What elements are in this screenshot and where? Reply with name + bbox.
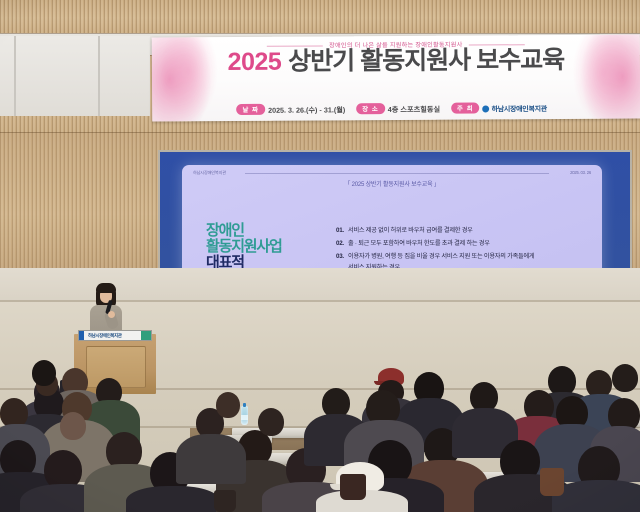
list-item-text: 이용자가 병원, 여행 등 집을 비울 경우 서비스 지원 또는 이용자의 가족…	[348, 253, 592, 260]
wall-seam-low	[0, 132, 640, 133]
slide-header: 하남시장애인복지관 2025. 03. 26	[193, 170, 591, 178]
wall-upper-slats	[0, 0, 640, 33]
audience-head	[32, 360, 56, 386]
slide-lead-line-1: 장애인	[206, 223, 356, 239]
handbag	[340, 474, 366, 500]
list-item: 01. 서비스 제공 없이 허위로 바우처 급여를 결제한 경우	[336, 227, 592, 234]
wall-seam-top	[0, 33, 640, 34]
banner-host-name: 하남시장애인복지관	[492, 106, 547, 113]
banner-place-segment: 장 소4층 스포츠힐동실	[356, 105, 442, 115]
list-item: 02. 출 · 퇴근 모두 포함하여 바우처 한도를 초과 결제 하는 경우	[336, 240, 592, 247]
banner-date-segment: 날 짜2025. 3. 26.(수) - 31.(월)	[236, 105, 347, 115]
presenter-hand	[108, 311, 115, 318]
host-logo-icon	[483, 105, 490, 112]
slide-organization: 하남시장애인복지관	[193, 170, 226, 176]
banner-title: 2025상반기 활동지원사 보수교육	[152, 48, 640, 76]
banner-host-segment: 주 최하남시장애인복지관	[451, 104, 547, 114]
audience-head	[258, 408, 284, 436]
list-item-text: 출 · 퇴근 모두 포함하여 바우처 한도를 초과 결제 하는 경우	[348, 240, 592, 247]
presenter-bangs	[96, 283, 116, 293]
slide-header-rule	[245, 173, 549, 174]
podium-sign-text: 하남시장애인복지관	[88, 333, 122, 339]
slide-subtitle: 「 2025 상반기 활동지원사 보수교육 」	[182, 179, 602, 188]
slide-lead-line-2: 활동지원사업	[206, 239, 356, 255]
banner-place-label: 장 소	[356, 103, 385, 114]
banner-place-value: 4층 스포츠힐동실	[388, 105, 440, 114]
audience-shoulders	[126, 486, 220, 512]
banner-date-label: 날 짜	[236, 104, 265, 115]
wall-panel-divider-a	[14, 36, 16, 116]
wall-panel-divider-b	[98, 36, 100, 116]
handbag	[214, 490, 236, 512]
podium-sign: 하남시장애인복지관	[78, 330, 152, 341]
list-item: 03. 이용자가 병원, 여행 등 집을 비울 경우 서비스 지원 또는 이용자…	[336, 253, 592, 260]
slide-date: 2025. 03. 26	[570, 170, 591, 175]
conference-photo: 장애인의 더 나은 삶을 지원하는 장애인활동지원사 2025상반기 활동지원사…	[0, 0, 640, 512]
audience-head	[612, 364, 638, 392]
list-item-text: 서비스 제공 없이 허위로 바우처 급여를 결제한 경우	[348, 227, 592, 234]
list-item-number: 02.	[336, 240, 348, 247]
audience-shoulders	[176, 434, 246, 484]
audience-head	[216, 392, 240, 418]
banner-title-text: 상반기 활동지원사 보수교육	[288, 46, 564, 76]
list-item-number: 01.	[336, 227, 348, 234]
banner-host-label: 주 최	[451, 102, 480, 113]
banner-year: 2025	[228, 48, 282, 76]
handbag	[540, 468, 564, 496]
banner-rule-right	[468, 44, 524, 45]
water-bottle	[241, 406, 248, 425]
wall-panel-left	[0, 36, 150, 116]
event-banner: 장애인의 더 나은 삶을 지원하는 장애인활동지원사 2025상반기 활동지원사…	[152, 35, 640, 122]
banner-rule-left	[267, 45, 323, 46]
audience-head	[60, 412, 86, 440]
audience-shoulders	[552, 480, 640, 512]
banner-meta: 날 짜2025. 3. 26.(수) - 31.(월) 장 소4층 스포츠힐동실…	[152, 103, 640, 117]
banner-date-value: 2025. 3. 26.(수) - 31.(월)	[268, 105, 345, 114]
list-item-number: 03.	[336, 253, 348, 260]
